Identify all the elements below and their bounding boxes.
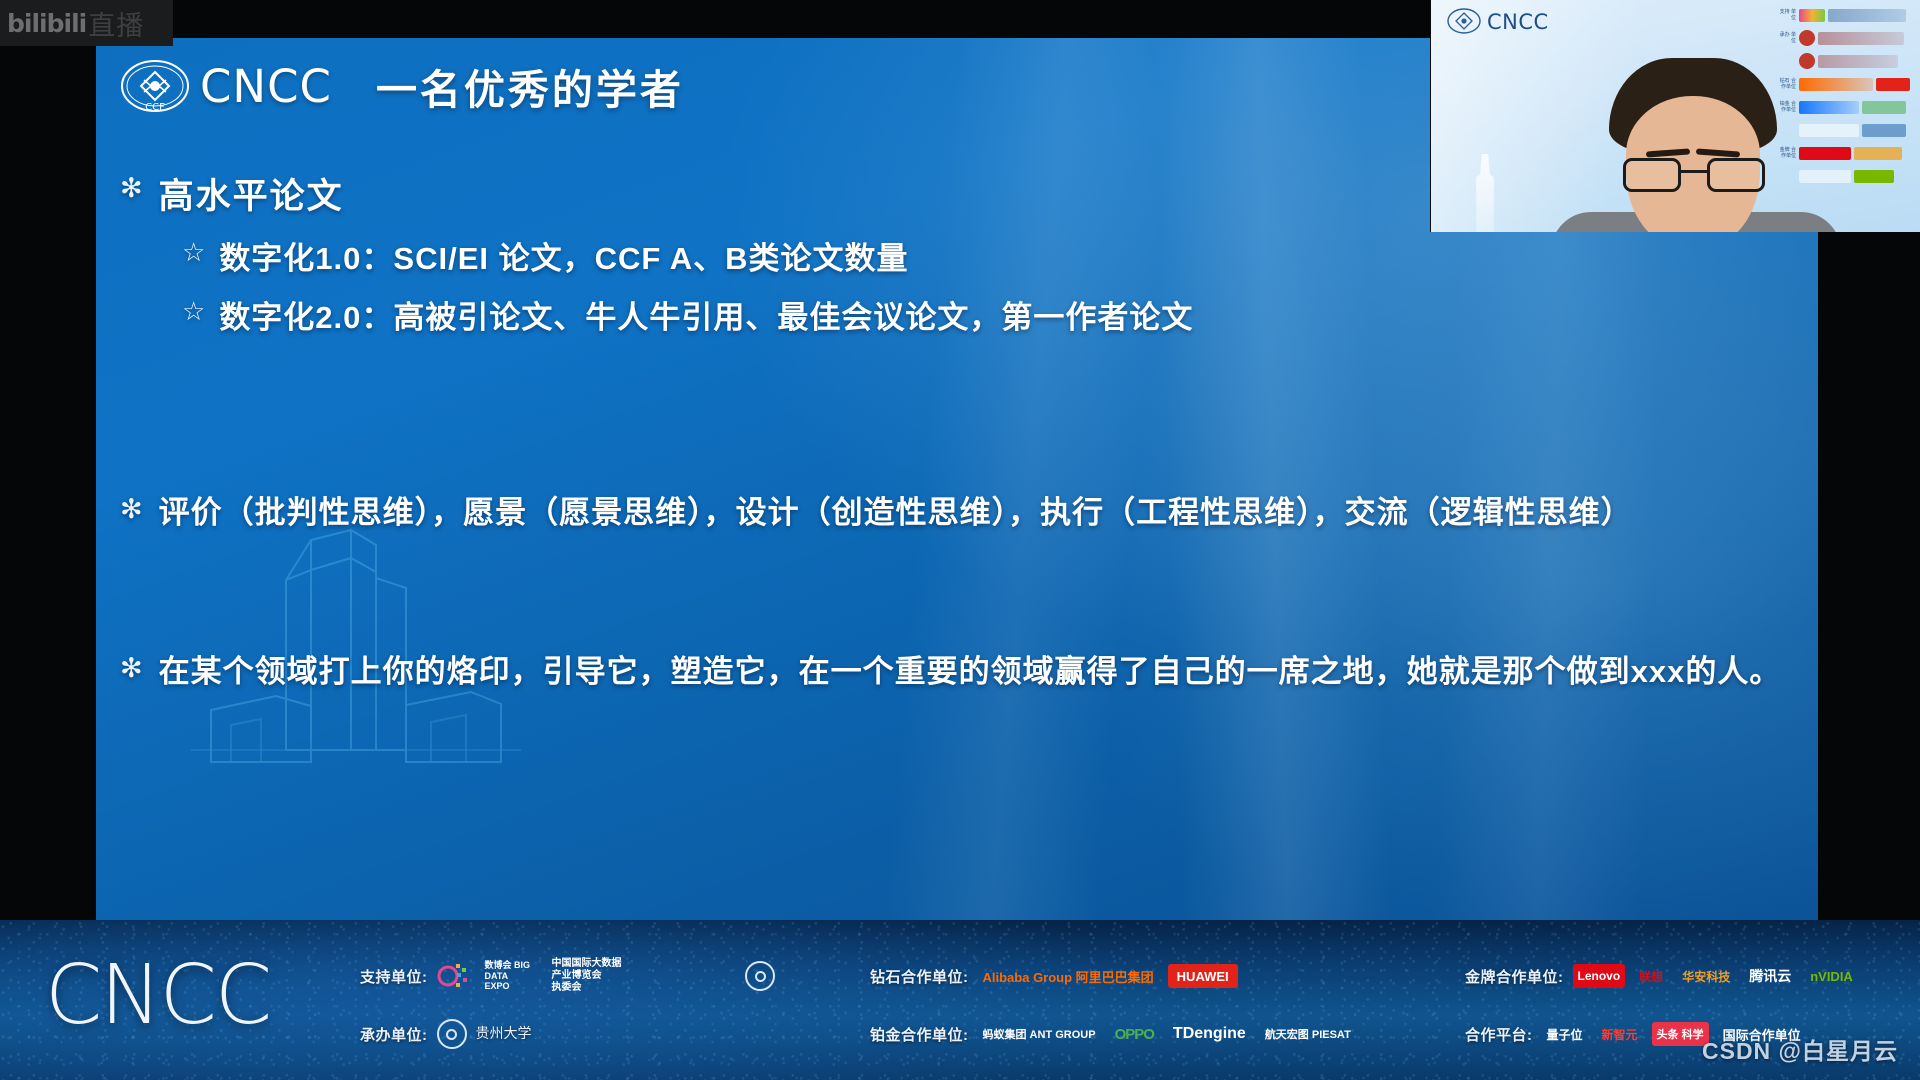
ccf-emblem-icon xyxy=(1447,8,1481,35)
pip-sponsor-label: 承办 单位 xyxy=(1778,32,1796,45)
bilibili-live-label: 直播 xyxy=(88,4,144,43)
pip-sponsor-row: 钻石 合作单位 xyxy=(1778,75,1916,93)
pip-sponsor-label: 金牌 合作单位 xyxy=(1778,147,1796,160)
support-unit-label: 支持单位: xyxy=(360,966,428,987)
tencent-cloud-logo xyxy=(1799,170,1851,183)
lenovo-logo xyxy=(1799,147,1851,160)
pip-sponsor-label: 铂金 合作单位 xyxy=(1778,101,1796,114)
bullet-paragraph: 评价（批判性思维），愿景（愿景思维），设计（创造性思维），执行（工程性思维），交… xyxy=(159,489,1633,536)
speaker-head xyxy=(1609,58,1777,232)
pip-sponsor-row: 金牌 合作单位 xyxy=(1778,144,1916,162)
slide-content: ✻ 高水平论文 ☆ 数字化1.0：SCI/EI 论文，CCF A、B类论文数量 … xyxy=(120,168,1788,695)
ccf-emblem-icon: CCF xyxy=(120,58,190,114)
slide-header: CCF CNCC 一名优秀的学者 xyxy=(120,56,684,116)
livestream-screen: bilibili 直播 xyxy=(0,0,1920,1080)
guizhou-university-text xyxy=(1818,32,1904,45)
speaker-eyebrow-right xyxy=(1696,148,1740,157)
diamond-partner-label: 钻石合作单位: xyxy=(870,966,969,987)
alibaba-logo: Alibaba Group 阿里巴巴集团 xyxy=(978,964,1159,988)
pip-sponsor-label: 钻石 合作单位 xyxy=(1778,78,1796,91)
gold-partner-label: 金牌合作单位: xyxy=(1465,966,1564,987)
pip-sponsor-row: 支持 单位 xyxy=(1778,6,1916,24)
big-data-expo-text: 数博会 BIG DATA EXPO xyxy=(480,964,538,988)
piesat-logo xyxy=(1862,124,1906,137)
pip-sponsor-row: 承办 单位 xyxy=(1778,29,1916,47)
toutiao-science-logo: 头条 科学 xyxy=(1652,1022,1709,1046)
bullet-block-2: ✻ 评价（批判性思维），愿景（愿景思维），设计（创造性思维），执行（工程性思维）… xyxy=(120,489,1788,536)
big-data-expo-icon xyxy=(437,961,471,991)
bullet-heading: 高水平论文 xyxy=(159,168,344,219)
nvidia-logo xyxy=(1854,170,1894,183)
lenovo-zh-logo: 联想 xyxy=(1634,964,1668,988)
guizhou-finance-university-seal-icon xyxy=(745,961,775,991)
big-data-expo-zh-text: 中国国际大数据 产业博览会 执委会 xyxy=(547,964,627,988)
bilibili-logo-text: bilibili xyxy=(7,9,86,38)
guizhou-university-logo xyxy=(1799,30,1815,46)
guizhou-university-logo: 贵州大学 xyxy=(476,1026,532,1042)
pip-sponsor-label: 支持 单位 xyxy=(1778,9,1796,22)
guizhou-finance-university-logo xyxy=(1799,53,1815,69)
ant-group-logo: 蚂蚁集团 ANT GROUP xyxy=(978,1022,1101,1046)
sub-bullet-item: ☆ 数字化1.0：SCI/EI 论文，CCF A、B类论文数量 xyxy=(120,233,1788,278)
banner-line-platinum: 铂金合作单位: 蚂蚁集团 ANT GROUP OPPO TDengine 航天宏… xyxy=(745,1014,1356,1054)
pip-sponsor-row xyxy=(1778,167,1916,185)
ant-group-logo xyxy=(1799,101,1859,114)
pip-sponsor-row: 铂金 合作单位 xyxy=(1778,98,1916,116)
asterisk-bullet-icon: ✻ xyxy=(120,174,143,202)
tdengine-logo: TDengine xyxy=(1168,1022,1251,1046)
bullet-block-3: ✻ 在某个领域打上你的烙印，引导它，塑造它，在一个重要的领域赢得了自己的一席之地… xyxy=(120,648,1788,695)
sub-bullet-text: 数字化2.0：高被引论文、牛人牛引用、最佳会议论文，第一作者论文 xyxy=(219,292,1193,337)
oppo-logo: OPPO xyxy=(1110,1022,1159,1046)
banner-line-support: 支持单位: 数博会 BIG DATA EXPO 中国国际大数据 产业博览会 执委… xyxy=(360,956,627,996)
alibaba-logo xyxy=(1799,78,1873,91)
banner-cncc-wordmark: CNCC xyxy=(45,948,270,1043)
huaan-tech-logo xyxy=(1854,147,1902,160)
big-data-expo-zh-logo xyxy=(1828,9,1906,22)
pip-sponsor-row xyxy=(1778,52,1916,70)
guizhou-finance-university-text xyxy=(1818,55,1898,68)
host-unit-label: 承办单位: xyxy=(360,1024,428,1045)
huawei-logo: HUAWEI xyxy=(1168,964,1238,988)
pip-sponsor-strip: 支持 单位 承办 单位 钻石 合作单位 铂金 合作单位 xyxy=(1778,6,1916,185)
speaker-eyebrow-left xyxy=(1646,148,1690,157)
tdengine-logo xyxy=(1799,124,1859,137)
pip-cncc-logo: CNCC xyxy=(1447,8,1549,35)
huawei-logo xyxy=(1876,78,1910,91)
pip-sponsor-row xyxy=(1778,121,1916,139)
platform-partner-label: 合作平台: xyxy=(1465,1024,1533,1045)
star-bullet-icon: ☆ xyxy=(182,237,205,268)
csdn-watermark: CSDN @白星月云 xyxy=(1702,1032,1898,1066)
lenovo-logo: Lenovo xyxy=(1573,964,1626,988)
piesat-logo: 航天宏图 PIESAT xyxy=(1260,1022,1356,1046)
cncc-wordmark: CNCC xyxy=(200,60,332,113)
qbitai-logo: 量子位 xyxy=(1542,1022,1588,1046)
glasses-bridge xyxy=(1681,170,1707,173)
sub-bullet-item: ☆ 数字化2.0：高被引论文、牛人牛引用、最佳会议论文，第一作者论文 xyxy=(120,292,1788,337)
speaker-webcam-pip[interactable]: CNCC 支持 单位 承办 单位 钻石 合作单位 xyxy=(1430,0,1920,232)
asterisk-bullet-icon: ✻ xyxy=(120,654,143,682)
big-data-expo-logo xyxy=(1799,9,1825,22)
spacer xyxy=(120,337,1788,489)
banner-column-support: 支持单位: 数博会 BIG DATA EXPO 中国国际大数据 产业博览会 执委… xyxy=(360,942,627,1068)
speaker-glasses xyxy=(1623,158,1765,192)
banner-line-host: 承办单位: 贵州大学 xyxy=(360,1014,627,1054)
banner-line-diamond: 钻石合作单位: Alibaba Group 阿里巴巴集团 HUAWEI xyxy=(745,956,1356,996)
svg-text:CCF: CCF xyxy=(145,102,165,113)
sponsor-banner: CNCC 支持单位: 数博会 BIG DATA EXPO 中国国际大数据 产业博… xyxy=(0,920,1920,1080)
star-bullet-icon: ☆ xyxy=(182,296,205,327)
bullet-paragraph: 在某个领域打上你的烙印，引导它，塑造它，在一个重要的领域赢得了自己的一席之地，她… xyxy=(159,648,1782,695)
banner-line-gold: 金牌合作单位: Lenovo 联想 华安科技 腾讯云 nVIDIA xyxy=(1465,956,1858,996)
glasses-lens-left xyxy=(1623,158,1681,192)
pip-brand-text: CNCC xyxy=(1487,10,1549,34)
banner-column-diamond: 钻石合作单位: Alibaba Group 阿里巴巴集团 HUAWEI 铂金合作… xyxy=(745,942,1356,1068)
platinum-partner-label: 铂金合作单位: xyxy=(870,1024,969,1045)
spacer xyxy=(120,536,1788,648)
huaan-tech-logo: 华安科技 xyxy=(1677,964,1735,988)
tencent-cloud-logo: 腾讯云 xyxy=(1744,964,1796,988)
sub-bullet-text: 数字化1.0：SCI/EI 论文，CCF A、B类论文数量 xyxy=(219,233,908,278)
glasses-lens-right xyxy=(1707,158,1765,192)
nvidia-logo: nVIDIA xyxy=(1805,964,1858,988)
oppo-logo xyxy=(1862,101,1906,114)
partner-red-logo: 新智元 xyxy=(1597,1022,1643,1046)
guizhou-university-seal-icon xyxy=(437,1019,467,1049)
bilibili-watermark: bilibili 直播 xyxy=(0,0,173,46)
asterisk-bullet-icon: ✻ xyxy=(120,495,143,523)
page-title: 一名优秀的学者 xyxy=(376,56,684,116)
